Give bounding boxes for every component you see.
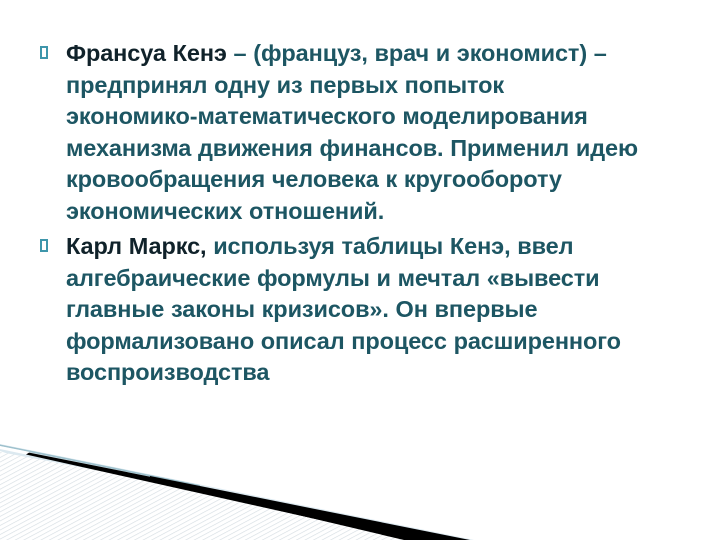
content-placeholder: Франсуа Кенэ – (француз, врач и экономис… (40, 38, 680, 393)
missing-glyph-box-icon (40, 239, 48, 252)
bullet-marker-icon (40, 38, 66, 59)
list-item: Франсуа Кенэ – (француз, врач и экономис… (40, 38, 680, 227)
list-item-text: Карл Маркс, используя таблицы Кенэ, ввел… (66, 231, 680, 389)
missing-glyph-box-icon (40, 46, 48, 59)
list-item: Карл Маркс, используя таблицы Кенэ, ввел… (40, 231, 680, 389)
decor-black-stripe-thick (150, 476, 470, 540)
decor-black-stripe (26, 452, 468, 540)
list-item-body-text: – (француз, врач и экономист) –предприня… (66, 40, 638, 224)
bullet-marker-icon (40, 231, 66, 252)
list-item-text: Франсуа Кенэ – (француз, врач и экономис… (66, 38, 680, 227)
decor-svg (0, 430, 720, 540)
decor-hatch-area (0, 430, 720, 540)
decor-light-band (0, 444, 474, 540)
decor-hairline (0, 445, 200, 487)
list-item-lead-text: Франсуа Кенэ (66, 40, 227, 66)
decorative-corner-graphic (0, 430, 720, 540)
slide-canvas: Франсуа Кенэ – (француз, врач и экономис… (0, 0, 720, 540)
list-item-lead-text: Карл Маркс, (66, 233, 206, 259)
decor-white-sliver (0, 446, 30, 455)
